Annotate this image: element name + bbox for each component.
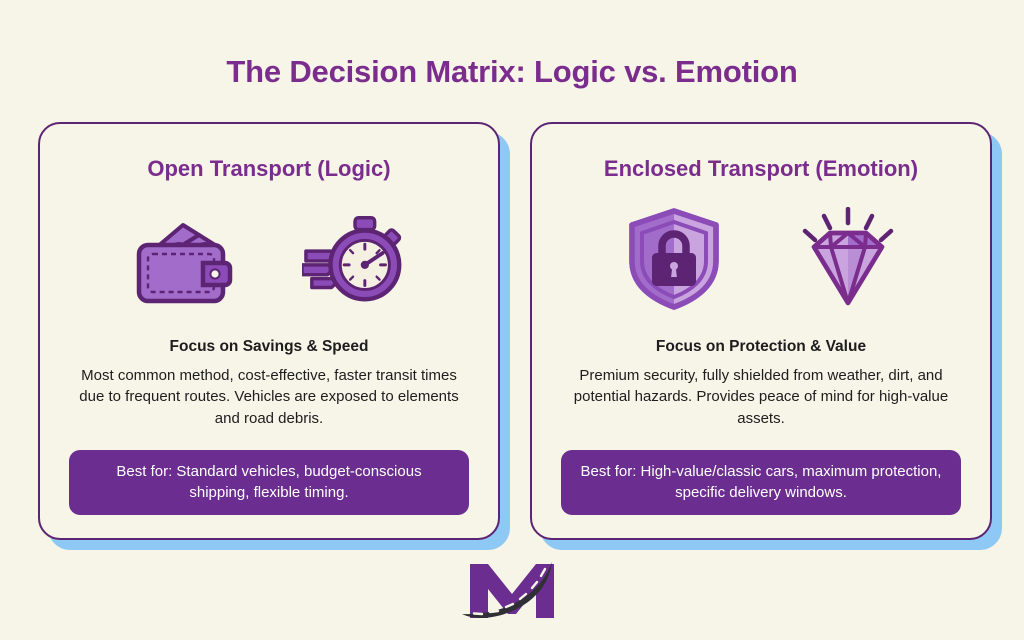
page-title: The Decision Matrix: Logic vs. Emotion <box>0 54 1024 90</box>
card-enclosed-transport: Enclosed Transport (Emotion) <box>530 122 992 540</box>
wallet-icon <box>128 205 236 313</box>
card-title: Open Transport (Logic) <box>62 156 476 182</box>
m-road-logo <box>0 556 1024 624</box>
diamond-sparkle-icon <box>794 205 902 313</box>
focus-heading: Focus on Savings & Speed <box>62 338 476 356</box>
infographic-page: The Decision Matrix: Logic vs. Emotion O… <box>0 0 1024 640</box>
icon-row <box>62 204 476 314</box>
icon-row <box>554 204 968 314</box>
card-title: Enclosed Transport (Emotion) <box>554 156 968 182</box>
winged-stopwatch-icon <box>302 205 410 313</box>
body-copy: Most common method, cost-effective, fast… <box>62 365 476 429</box>
card-open-transport: Open Transport (Logic) <box>38 122 500 540</box>
shield-lock-icon <box>620 205 728 313</box>
best-for-callout: Best for: High-value/classic cars, maxim… <box>561 450 961 515</box>
body-copy: Premium security, fully shielded from we… <box>554 365 968 429</box>
best-for-callout: Best for: Standard vehicles, budget-cons… <box>69 450 469 515</box>
focus-heading: Focus on Protection & Value <box>554 338 968 356</box>
